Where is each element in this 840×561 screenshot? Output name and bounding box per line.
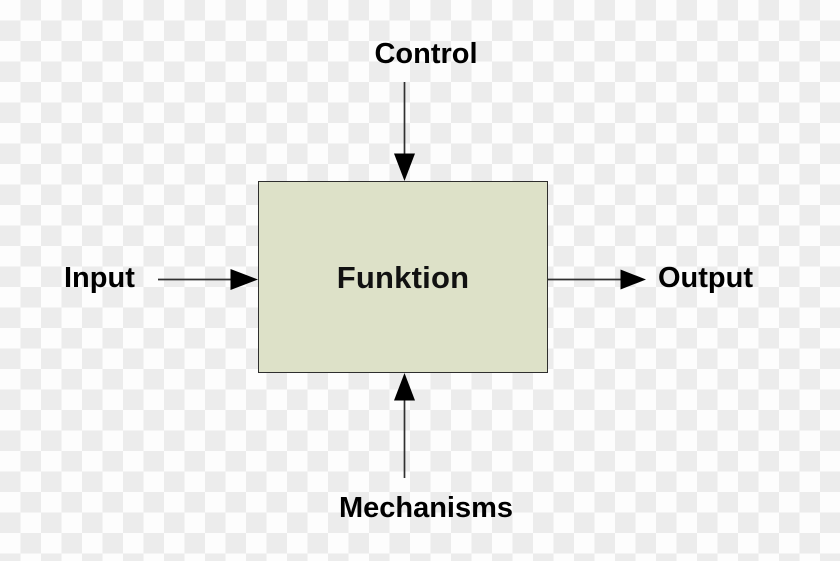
arrow-output bbox=[548, 270, 646, 290]
function-box-label: Funktion bbox=[337, 262, 469, 293]
label-output: Output bbox=[658, 264, 753, 293]
arrow-mechanisms bbox=[394, 373, 415, 478]
arrow-output-head bbox=[621, 270, 647, 290]
function-box[interactable]: Funktion bbox=[258, 181, 548, 373]
arrow-mechanisms-head bbox=[394, 373, 415, 401]
arrow-control bbox=[394, 82, 415, 181]
diagram-canvas: Funktion Control Input Output Mechanisms bbox=[0, 0, 840, 561]
label-control: Control bbox=[6, 40, 840, 69]
arrow-control-head bbox=[394, 154, 415, 182]
label-mechanisms: Mechanisms bbox=[6, 494, 840, 523]
arrow-input-head bbox=[231, 269, 259, 290]
label-input: Input bbox=[64, 264, 135, 293]
arrow-input bbox=[158, 269, 258, 290]
